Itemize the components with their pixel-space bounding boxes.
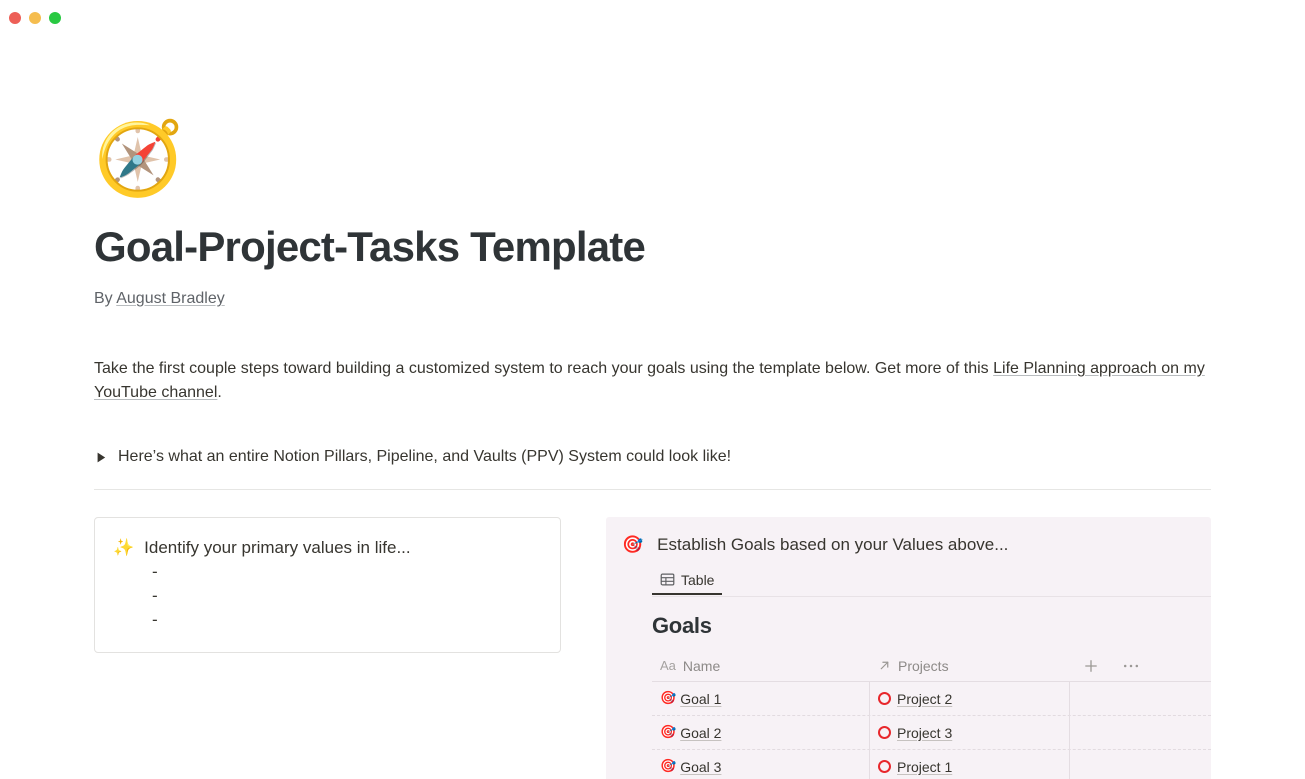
author-link[interactable]: August Bradley bbox=[116, 290, 225, 307]
cell-empty[interactable] bbox=[1070, 750, 1211, 779]
dart-icon: 🎯 bbox=[660, 691, 676, 707]
cell-name-link[interactable]: Goal 1 bbox=[680, 691, 721, 707]
cell-name-link[interactable]: Goal 3 bbox=[680, 759, 721, 775]
two-column-layout: ✨ Identify your primary values in life..… bbox=[94, 517, 1211, 779]
section-divider bbox=[94, 489, 1211, 490]
table-grid-icon bbox=[660, 572, 675, 587]
cell-name-link[interactable]: Goal 2 bbox=[680, 725, 721, 741]
cell-projects[interactable]: Project 1 bbox=[870, 750, 1070, 779]
cell-project-link[interactable]: Project 2 bbox=[897, 691, 952, 707]
sparkles-icon: ✨ bbox=[113, 536, 134, 560]
values-callout-header: ✨ Identify your primary values in life..… bbox=[113, 536, 544, 560]
cell-name[interactable]: 🎯 Goal 3 bbox=[652, 750, 870, 779]
table-header-actions bbox=[1070, 650, 1211, 682]
table-row[interactable]: 🎯 Goal 3 Project 1 bbox=[652, 750, 1211, 779]
table-header-row: Aa Name bbox=[652, 650, 1211, 682]
list-item[interactable]: - bbox=[152, 584, 544, 608]
red-circle-icon bbox=[878, 692, 891, 705]
cell-empty[interactable] bbox=[1070, 716, 1211, 750]
cell-projects[interactable]: Project 2 bbox=[870, 682, 1070, 716]
intro-paragraph: Take the first couple steps toward build… bbox=[94, 357, 1211, 405]
dart-icon: 🎯 bbox=[660, 759, 676, 775]
byline: By August Bradley bbox=[94, 288, 1211, 310]
maximize-window-button[interactable] bbox=[49, 12, 61, 24]
intro-text-before: Take the first couple steps toward build… bbox=[94, 360, 993, 377]
ppv-system-toggle[interactable]: Here’s what an entire Notion Pillars, Pi… bbox=[94, 445, 731, 469]
close-window-button[interactable] bbox=[9, 12, 21, 24]
cell-name[interactable]: 🎯 Goal 1 bbox=[652, 682, 870, 716]
ppv-system-toggle-label: Here’s what an entire Notion Pillars, Pi… bbox=[118, 445, 731, 469]
goals-column: 🎯 Establish Goals based on your Values a… bbox=[606, 517, 1211, 779]
column-header-projects[interactable]: Projects bbox=[870, 650, 1070, 682]
tab-table-label: Table bbox=[681, 572, 714, 588]
cell-project-link[interactable]: Project 1 bbox=[897, 759, 952, 775]
window-controls bbox=[9, 12, 61, 24]
cell-name[interactable]: 🎯 Goal 2 bbox=[652, 716, 870, 750]
triangle-right-icon[interactable] bbox=[94, 445, 108, 469]
list-item[interactable]: - bbox=[152, 608, 544, 632]
values-list: - - - bbox=[113, 560, 544, 632]
plus-icon[interactable] bbox=[1082, 657, 1100, 675]
table-row[interactable]: 🎯 Goal 1 Project 2 bbox=[652, 682, 1211, 716]
list-item[interactable]: - bbox=[152, 560, 544, 584]
byline-prefix: By bbox=[94, 290, 116, 307]
compass-icon[interactable]: 🧭 bbox=[94, 118, 174, 198]
column-header-name[interactable]: Aa Name bbox=[652, 650, 870, 682]
red-circle-icon bbox=[878, 726, 891, 739]
intro-text-after: . bbox=[217, 384, 221, 401]
dart-icon: 🎯 bbox=[660, 725, 676, 741]
page-content: 🧭 Goal-Project-Tasks Template By August … bbox=[0, 36, 1305, 779]
tab-table[interactable]: Table bbox=[652, 572, 722, 594]
app-window: 🧭 Goal-Project-Tasks Template By August … bbox=[0, 0, 1305, 779]
column-header-name-label: Name bbox=[683, 658, 720, 674]
values-callout-heading: Identify your primary values in life... bbox=[144, 536, 410, 560]
dart-icon: 🎯 bbox=[622, 533, 643, 557]
minimize-window-button[interactable] bbox=[29, 12, 41, 24]
table-row[interactable]: 🎯 Goal 2 Project 3 bbox=[652, 716, 1211, 750]
goals-panel: 🎯 Establish Goals based on your Values a… bbox=[606, 517, 1211, 779]
goals-panel-heading: Establish Goals based on your Values abo… bbox=[657, 533, 1008, 557]
red-circle-icon bbox=[878, 760, 891, 773]
goals-table: Aa Name bbox=[652, 650, 1211, 779]
values-callout-card[interactable]: ✨ Identify your primary values in life..… bbox=[94, 517, 561, 653]
database-view-tabs: Table bbox=[652, 568, 1211, 597]
ellipsis-icon[interactable] bbox=[1122, 657, 1140, 675]
relation-arrow-icon bbox=[878, 659, 891, 672]
aa-text-icon: Aa bbox=[660, 658, 676, 673]
cell-empty[interactable] bbox=[1070, 682, 1211, 716]
database-title[interactable]: Goals bbox=[652, 613, 1211, 639]
window-titlebar bbox=[0, 0, 1305, 36]
goals-panel-header: 🎯 Establish Goals based on your Values a… bbox=[606, 533, 1211, 557]
column-header-projects-label: Projects bbox=[898, 658, 949, 674]
cell-project-link[interactable]: Project 3 bbox=[897, 725, 952, 741]
cell-projects[interactable]: Project 3 bbox=[870, 716, 1070, 750]
page-title: Goal-Project-Tasks Template bbox=[94, 222, 1211, 272]
values-column: ✨ Identify your primary values in life..… bbox=[94, 517, 561, 653]
